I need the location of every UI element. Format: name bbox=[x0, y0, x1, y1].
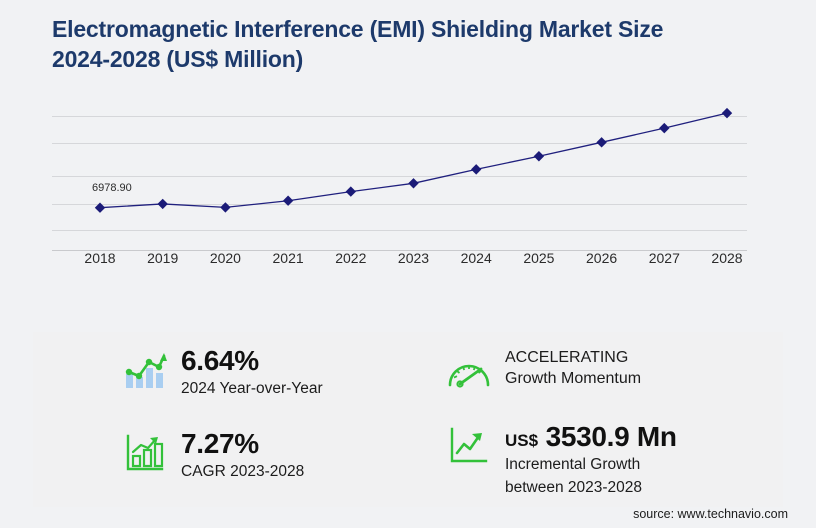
kpi-momentum-caption: Growth Momentum bbox=[505, 369, 641, 390]
x-axis-label: 2020 bbox=[210, 250, 241, 266]
x-axis-label: 2027 bbox=[649, 250, 680, 266]
line-chart-arrow-icon bbox=[443, 422, 495, 470]
kpi-cagr-caption: CAGR 2023-2028 bbox=[181, 462, 304, 482]
kpi-incremental-caption-2: between 2023-2028 bbox=[505, 478, 677, 498]
kpi-incremental-number: 3530.9 Mn bbox=[546, 421, 677, 452]
data-point-marker bbox=[408, 178, 418, 188]
x-axis-label: 2024 bbox=[461, 250, 492, 266]
kpi-yoy-value: 6.64% bbox=[181, 346, 323, 376]
kpi-momentum-headline: ACCELERATING bbox=[505, 348, 641, 369]
data-point-marker bbox=[346, 186, 356, 196]
x-axis-label: 2021 bbox=[273, 250, 304, 266]
market-size-line-chart: 6978.90 20182019202020212022202320242025… bbox=[0, 92, 816, 282]
x-axis-label: 2019 bbox=[147, 250, 178, 266]
title-line-2: 2024-2028 (US$ Million) bbox=[52, 44, 752, 74]
data-point-marker bbox=[220, 202, 230, 212]
x-axis-label: 2028 bbox=[711, 250, 742, 266]
x-axis-label: 2025 bbox=[523, 250, 554, 266]
data-point-marker bbox=[722, 108, 732, 118]
source-credit: source: www.technavio.com bbox=[633, 507, 788, 521]
x-axis-label: 2026 bbox=[586, 250, 617, 266]
speedometer-icon bbox=[443, 348, 495, 396]
bar-chart-arrow-icon bbox=[119, 429, 171, 477]
bar-line-growth-icon bbox=[119, 346, 171, 394]
x-axis-label: 2018 bbox=[84, 250, 115, 266]
kpi-yoy-caption: 2024 Year-over-Year bbox=[181, 379, 323, 399]
kpi-incremental-growth: US$ 3530.9 Mn Incremental Growth between… bbox=[443, 422, 677, 498]
kpi-incremental-unit: US$ bbox=[505, 431, 538, 450]
data-point-marker bbox=[534, 151, 544, 161]
kpi-year-over-year: 6.64% 2024 Year-over-Year bbox=[119, 346, 323, 399]
kpi-cagr: 7.27% CAGR 2023-2028 bbox=[119, 429, 304, 482]
data-point-label-2018: 6978.90 bbox=[92, 182, 132, 194]
kpi-cagr-value: 7.27% bbox=[181, 429, 304, 459]
data-point-marker bbox=[471, 164, 481, 174]
data-point-marker bbox=[659, 123, 669, 133]
kpi-incremental-caption-1: Incremental Growth bbox=[505, 455, 677, 475]
kpi-cagr-text: 7.27% CAGR 2023-2028 bbox=[171, 429, 304, 482]
series-line bbox=[100, 113, 727, 208]
data-point-marker bbox=[158, 199, 168, 209]
title-line-1: Electromagnetic Interference (EMI) Shiel… bbox=[52, 16, 663, 42]
x-axis-label: 2022 bbox=[335, 250, 366, 266]
kpi-incremental-value: US$ 3530.9 Mn bbox=[505, 422, 677, 452]
data-point-marker bbox=[283, 196, 293, 206]
chart-series bbox=[52, 100, 747, 250]
data-point-marker bbox=[596, 137, 606, 147]
data-point-marker bbox=[95, 203, 105, 213]
x-axis-labels: 2018201920202021202220232024202520262027… bbox=[52, 250, 747, 274]
chart-plot-area: 6978.90 bbox=[52, 100, 747, 250]
kpi-year-over-year-text: 6.64% 2024 Year-over-Year bbox=[171, 346, 323, 399]
kpi-growth-momentum-text: ACCELERATING Growth Momentum bbox=[495, 348, 641, 390]
x-axis-label: 2023 bbox=[398, 250, 429, 266]
kpi-incremental-growth-text: US$ 3530.9 Mn Incremental Growth between… bbox=[495, 422, 677, 498]
kpi-panel: 6.64% 2024 Year-over-Year 7.27% CAGR 202… bbox=[33, 332, 783, 507]
kpi-growth-momentum: ACCELERATING Growth Momentum bbox=[443, 348, 641, 396]
page-title: Electromagnetic Interference (EMI) Shiel… bbox=[52, 14, 752, 75]
